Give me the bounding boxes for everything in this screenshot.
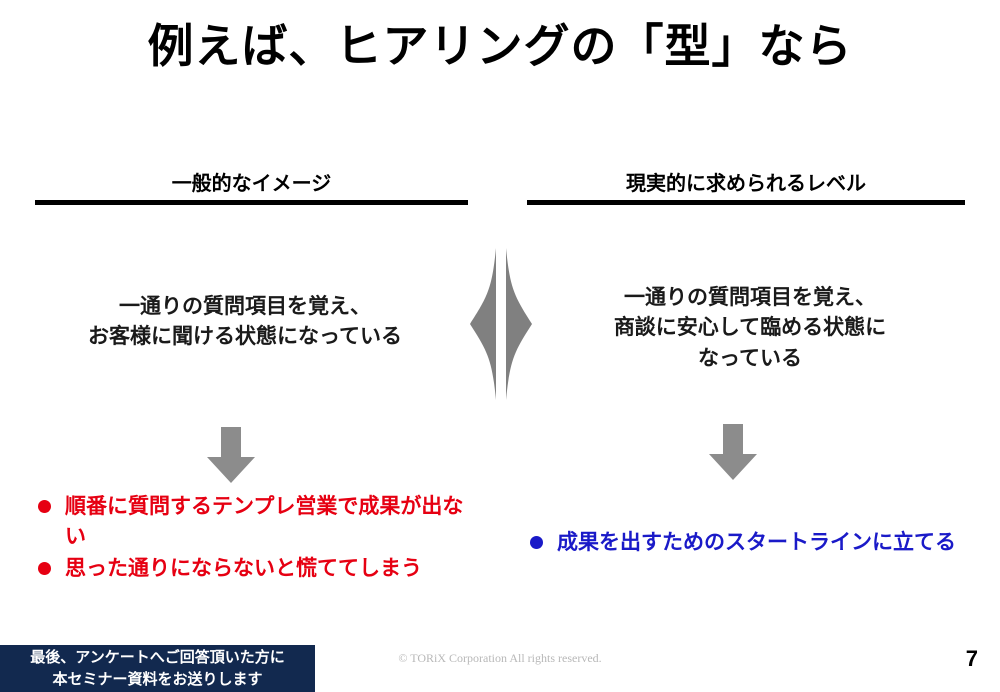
slide-canvas: 例えば、ヒアリングの「型」なら 一般的なイメージ 現実的に求められるレベル 一通… <box>0 0 1000 692</box>
column-header-left: 一般的なイメージ <box>35 172 468 196</box>
statement-right-line-3: なっている <box>530 344 970 374</box>
page-number: 7 <box>966 646 978 672</box>
bullet-list-left: 順番に質問するテンプレ営業で成果が出ない 思った通りにならないと慌ててしまう <box>38 492 468 585</box>
page-title: 例えば、ヒアリングの「型」なら <box>0 20 1000 73</box>
footer-banner-line-1: 最後、アンケートへご回答頂いた方に <box>30 647 284 669</box>
bullet-dot-icon <box>530 536 543 549</box>
down-arrow-icon-right <box>707 424 759 480</box>
bullet-text: 思った通りにならないと慌ててしまう <box>65 554 468 584</box>
statement-left: 一通りの質問項目を覚え、 お客様に聞ける状態になっている <box>20 292 470 353</box>
statement-right-line-1: 一通りの質問項目を覚え、 <box>530 283 970 313</box>
column-rule-left <box>35 200 468 205</box>
list-item: 思った通りにならないと慌ててしまう <box>38 554 468 584</box>
bullet-dot-icon <box>38 562 51 575</box>
footer-banner: 最後、アンケートへご回答頂いた方に 本セミナー資料をお送りします <box>0 645 315 692</box>
bullet-dot-icon <box>38 500 51 513</box>
down-arrow-icon-left <box>205 427 257 483</box>
statement-right-line-2: 商談に安心して臨める状態に <box>530 313 970 343</box>
bullet-text: 成果を出すためのスタートラインに立てる <box>557 528 960 558</box>
statement-right: 一通りの質問項目を覚え、 商談に安心して臨める状態に なっている <box>530 283 970 374</box>
bullet-text: 順番に質問するテンプレ営業で成果が出ない <box>65 492 468 552</box>
column-header-right: 現実的に求められるレベル <box>527 172 965 196</box>
list-item: 成果を出すためのスタートラインに立てる <box>530 528 960 558</box>
column-rule-right <box>527 200 965 205</box>
statement-left-line-2: お客様に聞ける状態になっている <box>20 322 470 352</box>
statement-left-line-1: 一通りの質問項目を覚え、 <box>20 292 470 322</box>
footer-banner-line-2: 本セミナー資料をお送りします <box>52 669 262 691</box>
bullet-list-right: 成果を出すためのスタートラインに立てる <box>530 528 960 560</box>
double-blade-divider-icon <box>466 248 536 400</box>
list-item: 順番に質問するテンプレ営業で成果が出ない <box>38 492 468 552</box>
